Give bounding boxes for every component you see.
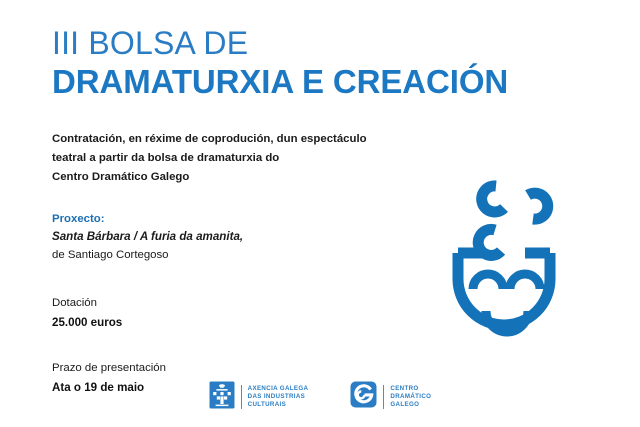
poster-body: Contratación, en réxime de coprodución, … — [52, 130, 412, 397]
funding-label: Dotación — [52, 294, 412, 313]
mask-eye-right — [510, 274, 540, 289]
intro-line-2: teatral a partir da bolsa de dramaturxia… — [52, 149, 412, 168]
logo-axencia-line-2: DAS INDUSTRIAS — [248, 393, 309, 401]
funding-amount: 25.000 euros — [52, 313, 412, 332]
title-line-2: DRAMATURXIA E CREACIÓN — [52, 62, 572, 102]
logo-cdg-line-1: CENTRO — [390, 385, 431, 393]
logo-text-cdg: CENTRO DRAMÁTICO GALEGO — [390, 385, 431, 410]
project-title: Santa Bárbara / A furia da amanita, — [52, 228, 412, 246]
mask-eye-left — [473, 274, 503, 289]
project-author: de Santiago Cortegoso — [52, 246, 412, 264]
page-title: III BOLSA DE DRAMATURXIA E CREACIÓN — [52, 24, 572, 102]
project-block: Proxecto: Santa Bárbara / A furia da ama… — [52, 210, 412, 264]
logo-cdg-line-3: GALEGO — [390, 401, 431, 409]
title-line-1: III BOLSA DE — [52, 24, 572, 62]
intro-line-3: Centro Dramático Galego — [52, 168, 412, 187]
logo-text-axencia: AXENCIA GALEGA DAS INDUSTRIAS CULTURAIS — [248, 385, 309, 410]
poster-canvas: III BOLSA DE DRAMATURXIA E CREACIÓN Cont… — [0, 0, 640, 427]
logo-centro-dramatico-galego: CENTRO DRAMÁTICO GALEGO — [350, 380, 431, 414]
logo-axencia-line-3: CULTURAIS — [248, 401, 309, 409]
logo-axencia-galega-das-industrias-culturais: AXENCIA GALEGA DAS INDUSTRIAS CULTURAIS — [209, 380, 309, 414]
xunta-coat-of-arms-icon — [209, 381, 235, 414]
logo-axencia-line-1: AXENCIA GALEGA — [248, 385, 309, 393]
project-label: Proxecto: — [52, 210, 412, 228]
smiling-mask-icon — [444, 160, 574, 365]
funding-block: Dotación 25.000 euros — [52, 294, 412, 332]
cdg-spiral-icon — [350, 381, 377, 413]
footer-logos: AXENCIA GALEGA DAS INDUSTRIAS CULTURAIS … — [0, 376, 640, 418]
mask-curl-left — [482, 186, 504, 212]
logo-cdg-line-2: DRAMÁTICO — [390, 393, 431, 401]
mask-curl-right — [528, 193, 548, 219]
logo-divider — [383, 385, 384, 409]
intro-line-1: Contratación, en réxime de coprodución, … — [52, 130, 412, 149]
logo-divider — [241, 385, 242, 409]
intro-paragraph: Contratación, en réxime de coprodución, … — [52, 130, 412, 187]
